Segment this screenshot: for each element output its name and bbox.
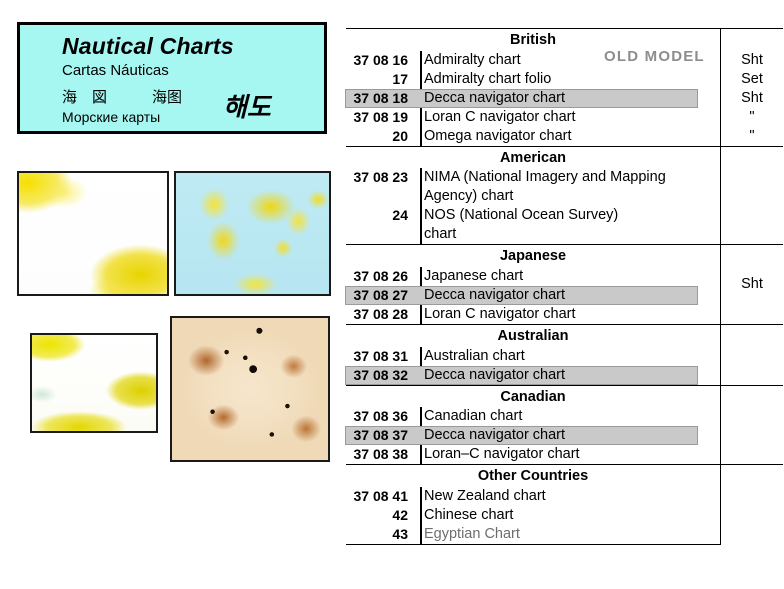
row-code: 37 08 16 xyxy=(346,51,415,70)
table-row[interactable]: 37 08 38Loran–C navigator chart xyxy=(346,445,720,464)
table-row[interactable]: 37 08 41New Zealand chart xyxy=(346,487,720,506)
illustration-panel: Nautical Charts Cartas Náuticas 海 図 海图 М… xyxy=(0,0,340,589)
unit-value xyxy=(721,147,783,166)
row-code: 17 xyxy=(346,70,415,89)
unit-value xyxy=(721,484,783,503)
unit-value xyxy=(721,386,783,405)
row-description: Australian chart xyxy=(415,347,720,366)
unit-column xyxy=(721,147,783,245)
row-description: NOS (National Ocean Survey) chart xyxy=(415,206,720,244)
table-section: American37 08 23NIMA (National Imagery a… xyxy=(346,147,783,246)
table-row[interactable]: 37 08 32Decca navigator chart xyxy=(346,366,720,385)
row-description: NIMA (National Imagery and Mapping Agenc… xyxy=(415,168,720,206)
unit-column xyxy=(721,465,783,545)
row-description: Canadian chart xyxy=(415,407,720,426)
unit-value: " xyxy=(721,127,783,146)
table-section: Australian37 08 31Australian chart37 08 … xyxy=(346,325,783,386)
unit-value xyxy=(721,405,783,424)
table-section-body: British37 08 16Admiralty chart17Admiralt… xyxy=(346,29,721,146)
table-section: British37 08 16Admiralty chart17Admiralt… xyxy=(346,29,783,147)
row-description: Decca navigator chart xyxy=(415,426,720,445)
row-description: Decca navigator chart xyxy=(415,89,720,108)
unit-column: Sht xyxy=(721,245,783,324)
unit-value: " xyxy=(721,108,783,127)
title-korean: 해도 xyxy=(223,87,271,124)
table-row[interactable]: 37 08 26Japanese chart xyxy=(346,267,720,286)
row-code: 37 08 37 xyxy=(346,426,415,445)
row-description: Omega navigator chart xyxy=(415,127,720,146)
table-rows: 37 08 26Japanese chart37 08 27Decca navi… xyxy=(346,267,720,324)
unit-value: Sht xyxy=(721,89,783,108)
chart-thumbnail-antique-sepia xyxy=(170,316,330,462)
table-row[interactable]: 37 08 28Loran C navigator chart xyxy=(346,305,720,324)
table-row[interactable]: 37 08 18Decca navigator chart xyxy=(346,89,720,108)
table-section-heading: Japanese xyxy=(346,245,720,267)
row-code: 37 08 28 xyxy=(346,305,415,324)
row-description: Decca navigator chart xyxy=(415,286,720,305)
table-section-heading: American xyxy=(346,147,720,169)
row-code: 24 xyxy=(346,206,415,225)
table-section-body: Other Countries37 08 41New Zealand chart… xyxy=(346,465,721,545)
table-section-heading: Australian xyxy=(346,325,720,347)
row-code: 42 xyxy=(346,506,415,525)
old-model-stamp: OLD MODEL xyxy=(604,48,705,65)
row-description: Admiralty chart folio xyxy=(415,70,720,89)
chart-thumbnail-world-map xyxy=(174,171,331,296)
table-row[interactable]: 37 08 19Loran C navigator chart xyxy=(346,108,720,127)
unit-column xyxy=(721,386,783,465)
table-row[interactable]: 20Omega navigator chart xyxy=(346,127,720,146)
table-rows: 37 08 41New Zealand chart42Chinese chart… xyxy=(346,487,720,544)
table-row[interactable]: 24NOS (National Ocean Survey) chart xyxy=(346,206,720,244)
row-description: Loran C navigator chart xyxy=(415,305,720,324)
row-code: 43 xyxy=(346,525,415,544)
title-card: Nautical Charts Cartas Náuticas 海 図 海图 М… xyxy=(17,22,327,134)
row-code: 37 08 41 xyxy=(346,487,415,506)
chart-thumbnail-antique-sepia-image xyxy=(172,318,328,460)
row-description: Chinese chart xyxy=(415,506,720,525)
table-section-body: American37 08 23NIMA (National Imagery a… xyxy=(346,147,721,245)
table-section: Japanese37 08 26Japanese chart37 08 27De… xyxy=(346,245,783,325)
table-row[interactable]: 37 08 27Decca navigator chart xyxy=(346,286,720,305)
table-row[interactable]: 37 08 23NIMA (National Imagery and Mappi… xyxy=(346,168,720,206)
table-row[interactable]: 17Admiralty chart folio xyxy=(346,70,720,89)
unit-value xyxy=(721,325,783,344)
unit-value xyxy=(721,465,783,484)
row-code: 37 08 27 xyxy=(346,286,415,305)
unit-value xyxy=(721,166,783,185)
table-rows: 37 08 31Australian chart37 08 32Decca na… xyxy=(346,347,720,385)
row-code: 37 08 18 xyxy=(346,89,415,108)
row-code: 37 08 19 xyxy=(346,108,415,127)
row-code: 37 08 32 xyxy=(346,366,415,385)
title-russian: Морские карты xyxy=(62,109,160,125)
row-code: 37 08 23 xyxy=(346,168,415,187)
table-section-body: Australian37 08 31Australian chart37 08 … xyxy=(346,325,721,385)
table-row[interactable]: 37 08 31Australian chart xyxy=(346,347,720,366)
title-english: Nautical Charts xyxy=(62,33,234,60)
table-section-heading: Canadian xyxy=(346,386,720,408)
unit-value xyxy=(721,503,783,522)
row-code: 37 08 26 xyxy=(346,267,415,286)
chart-thumbnail-coastal xyxy=(30,333,158,433)
table-row[interactable]: 43Egyptian Chart xyxy=(346,525,720,544)
title-spanish: Cartas Náuticas xyxy=(62,62,169,79)
row-code: 37 08 31 xyxy=(346,347,415,366)
table-section-heading: Other Countries xyxy=(346,465,720,487)
table-row[interactable]: 37 08 37Decca navigator chart xyxy=(346,426,720,445)
row-description: Japanese chart xyxy=(415,267,720,286)
row-code: 37 08 38 xyxy=(346,445,415,464)
row-description: Loran–C navigator chart xyxy=(415,445,720,464)
row-description: Egyptian Chart xyxy=(415,525,720,544)
row-code: 37 08 36 xyxy=(346,407,415,426)
table-section-body: Japanese37 08 26Japanese chart37 08 27De… xyxy=(346,245,721,324)
table-section: Other Countries37 08 41New Zealand chart… xyxy=(346,465,783,545)
unit-column xyxy=(721,325,783,385)
table-section-body: Canadian37 08 36Canadian chart37 08 37De… xyxy=(346,386,721,465)
row-code: 20 xyxy=(346,127,415,146)
unit-value: Set xyxy=(721,70,783,89)
title-cjk: 海 図 海图 xyxy=(62,86,182,107)
table-rows: 37 08 36Canadian chart37 08 37Decca navi… xyxy=(346,407,720,464)
chart-thumbnail-ocean-white xyxy=(17,171,169,296)
chart-thumbnail-ocean-white-image xyxy=(19,173,167,294)
table-row[interactable]: 37 08 36Canadian chart xyxy=(346,407,720,426)
chart-thumbnail-world-map-image xyxy=(176,173,329,294)
unit-value: Sht xyxy=(741,275,763,294)
catalogue-table: British37 08 16Admiralty chart17Admiralt… xyxy=(346,28,783,545)
table-row[interactable]: 42Chinese chart xyxy=(346,506,720,525)
row-description: New Zealand chart xyxy=(415,487,720,506)
unit-value: Sht xyxy=(721,51,783,70)
table-rows: 37 08 23NIMA (National Imagery and Mappi… xyxy=(346,168,720,244)
row-description: Loran C navigator chart xyxy=(415,108,720,127)
unit-value xyxy=(721,424,783,443)
unit-value xyxy=(721,344,783,363)
table-section: Canadian37 08 36Canadian chart37 08 37De… xyxy=(346,386,783,466)
row-description: Decca navigator chart xyxy=(415,366,720,385)
chart-thumbnail-coastal-image xyxy=(32,335,156,431)
